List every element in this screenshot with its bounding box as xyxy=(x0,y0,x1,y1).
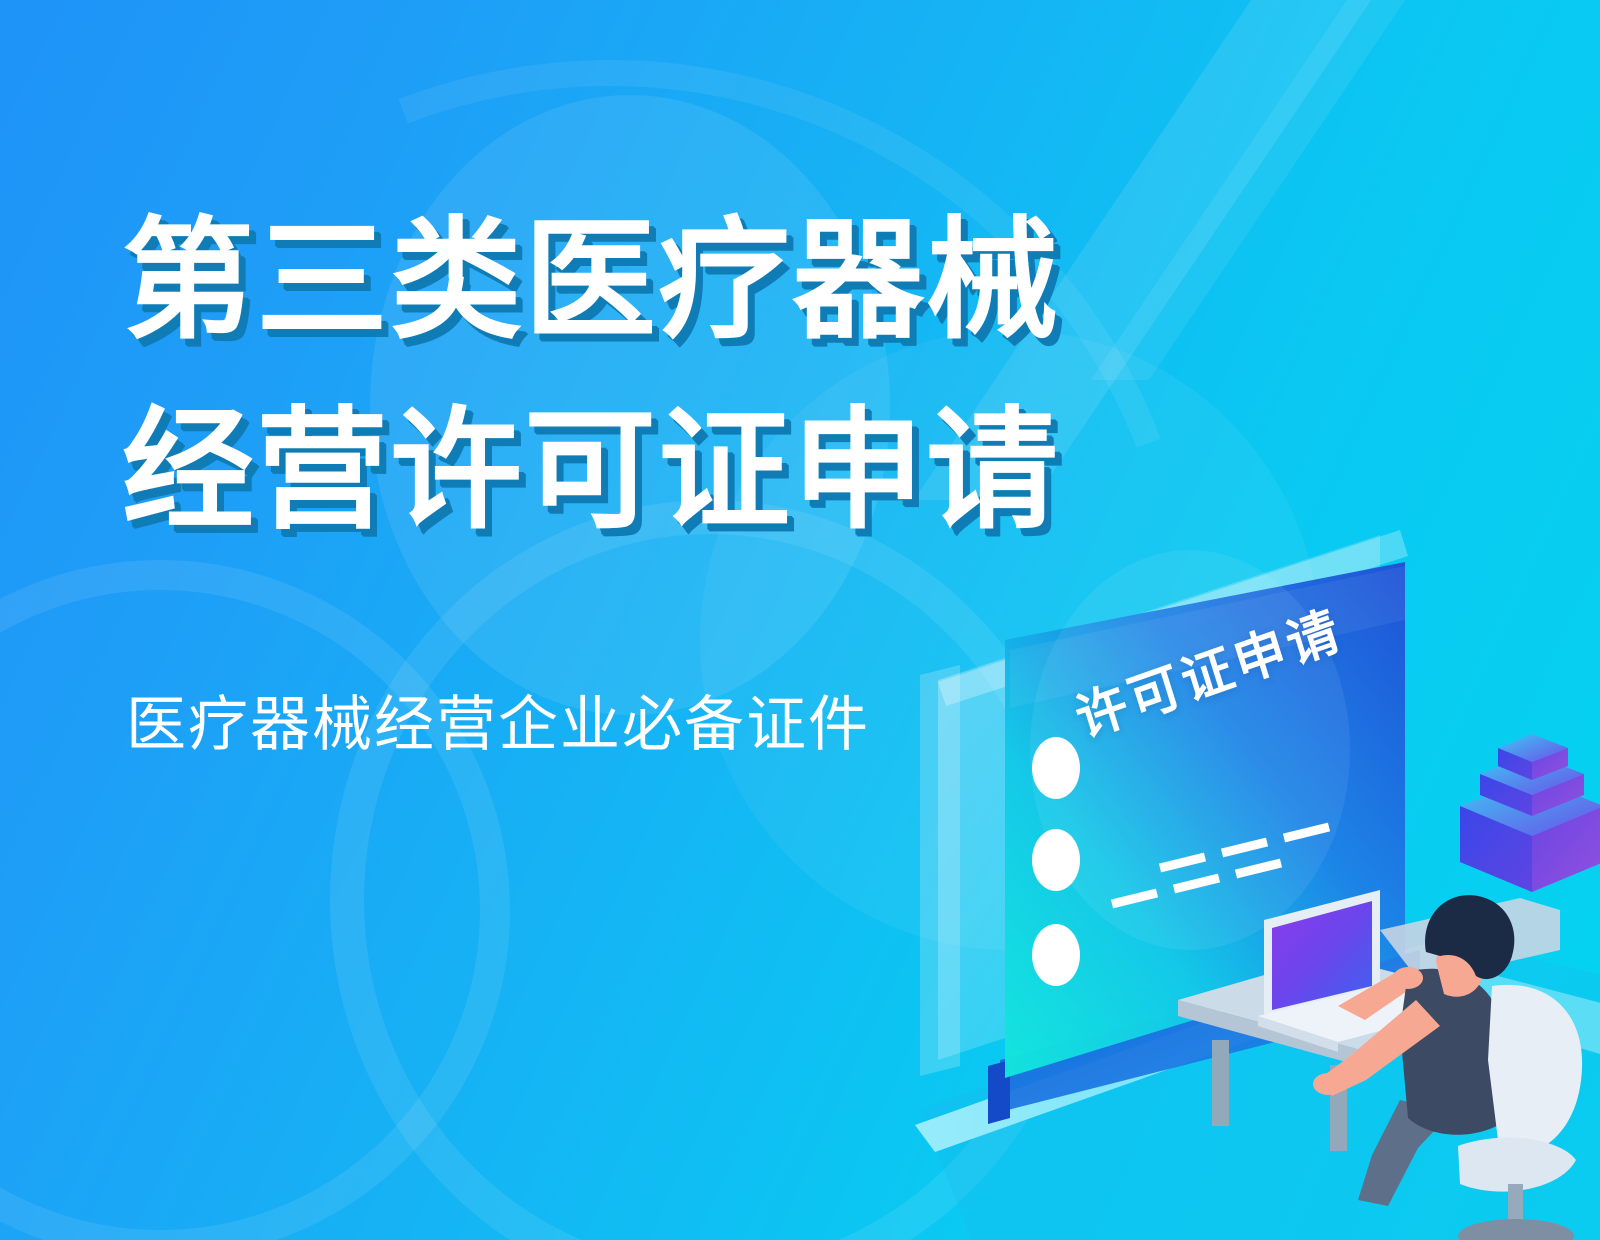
poster-canvas: 第三类医疗器械 经营许可证申请 医疗器械经营企业必备证件 xyxy=(0,0,1600,1240)
desk-leg xyxy=(1212,1040,1229,1126)
background-ring-lower-left xyxy=(0,560,510,1240)
background-streak-two xyxy=(1091,0,1567,380)
bullet-dot xyxy=(1032,737,1080,799)
title-line-1: 第三类医疗器械 xyxy=(122,186,1060,376)
bullet-dot xyxy=(1032,924,1080,986)
subtitle: 医疗器械经营企业必备证件 xyxy=(126,676,870,763)
title-line-2: 经营许可证申请 xyxy=(122,376,1060,566)
isometric-illustration xyxy=(860,500,1600,1240)
bullet-dots xyxy=(1032,737,1080,986)
headline-block: 第三类医疗器械 经营许可证申请 xyxy=(122,186,1060,566)
bullet-dot xyxy=(1032,829,1080,891)
stacked-boxes xyxy=(1460,734,1600,892)
